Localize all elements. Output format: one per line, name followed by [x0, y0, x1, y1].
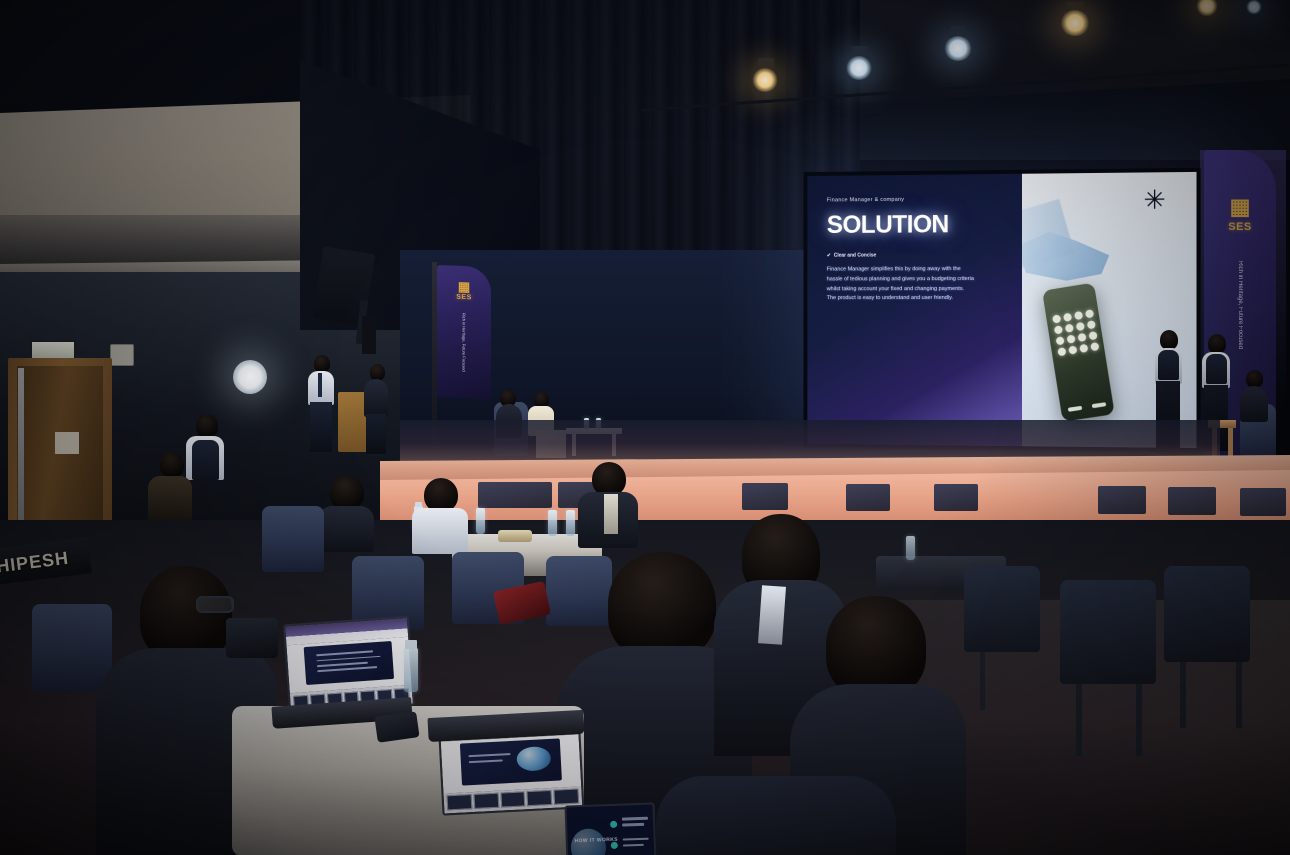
water-bottle	[548, 510, 557, 536]
projection-screen: Finance Manager & company SOLUTION ✔Clea…	[804, 168, 1201, 452]
audience-collar	[758, 585, 786, 645]
slide-canvas[interactable]	[441, 735, 582, 794]
wall-lamp-icon	[233, 360, 267, 394]
audience-chair	[1164, 566, 1250, 662]
keypad-key	[1078, 333, 1087, 342]
slide-subheading-text: Clear and Concise	[834, 253, 877, 259]
slide-thumbnail[interactable]	[527, 790, 553, 806]
chair-leg	[1136, 684, 1142, 756]
keypad-key	[1091, 342, 1100, 351]
stage-panel	[1240, 488, 1286, 516]
auditorium-photo: ▦ SES Rich in Heritage, Future Focused ▦…	[0, 0, 1290, 855]
stool-leg	[1228, 428, 1233, 458]
warm-spotlight-icon	[1060, 10, 1090, 36]
keypad-key	[1069, 345, 1078, 354]
stage-panel	[934, 484, 978, 511]
slide-subheading: ✔Clear and Concise	[827, 252, 1011, 259]
speaker-mount	[362, 316, 376, 354]
wall-plate	[110, 344, 134, 366]
audience-chair	[964, 566, 1040, 652]
slide-text-line	[469, 753, 511, 758]
audience-collar	[604, 494, 618, 534]
step-dot	[611, 842, 618, 849]
cool-spotlight-icon	[944, 36, 972, 61]
slide-thumbnail[interactable]	[473, 793, 499, 809]
editor-slide[interactable]	[304, 641, 394, 686]
keypad-key	[1065, 324, 1074, 333]
audience-chair	[1060, 580, 1156, 684]
stage-panel	[846, 484, 890, 511]
audience-head	[330, 476, 364, 510]
eyeglasses-icon	[196, 596, 234, 613]
chair-leg	[980, 652, 985, 710]
water-bottle	[906, 536, 915, 560]
bag	[226, 618, 278, 658]
check-icon: ✔	[827, 253, 831, 259]
slide-text-line	[317, 651, 373, 656]
student-vest	[1158, 350, 1179, 380]
presenter-legs	[310, 402, 332, 452]
chair-leg	[1236, 662, 1242, 728]
chair-leg	[1076, 684, 1082, 756]
slide-title: SOLUTION	[827, 212, 1011, 238]
slide-text-line	[622, 817, 648, 820]
editor-slide[interactable]	[460, 739, 561, 785]
stage-panel	[478, 482, 552, 508]
audience-body	[318, 506, 374, 552]
water-bottle	[566, 510, 575, 536]
keypad-key	[1056, 336, 1065, 345]
slide-text-line	[469, 759, 503, 763]
asterisk-icon: ✳	[1143, 186, 1165, 213]
ses-banner-right-logo: SES	[1204, 221, 1276, 233]
stage-panel	[1168, 487, 1216, 515]
slide-text-line	[317, 655, 380, 661]
audience-body	[148, 476, 192, 520]
cool-spotlight-icon	[846, 56, 872, 80]
student-head	[1208, 334, 1226, 354]
slide-thumbnail[interactable]	[500, 792, 526, 808]
stage-panel	[742, 483, 788, 510]
slide-thumbnail[interactable]	[554, 789, 580, 805]
slide-text-line	[622, 823, 644, 826]
water-bottle	[404, 648, 418, 692]
presenter-legs	[366, 414, 386, 454]
chair-leg	[1180, 662, 1186, 728]
keypad-key	[1067, 335, 1076, 344]
slide-text-line	[318, 666, 378, 672]
slide-text-panel: Finance Manager & company SOLUTION ✔Clea…	[807, 174, 1022, 446]
student-vest	[1206, 354, 1227, 384]
ses-banner-left-logo: SES	[437, 293, 491, 302]
audience-chair	[32, 604, 112, 692]
keypad-key	[1087, 320, 1096, 329]
phone-bar	[1068, 406, 1083, 412]
keypad-key	[1063, 313, 1072, 322]
audience-head	[160, 452, 184, 478]
student-body	[1240, 386, 1268, 422]
audience-body	[412, 508, 468, 554]
door-light-gap	[18, 368, 24, 534]
keypad-key	[1074, 311, 1083, 320]
slide-canvas[interactable]	[286, 637, 411, 694]
projected-slide: Finance Manager & company SOLUTION ✔Clea…	[807, 172, 1196, 448]
slide-text-line	[623, 844, 644, 847]
slide-eyebrow: Finance Manager & company	[827, 196, 1011, 204]
ses-banner-left: ▦ SES Rich in Heritage, Future Focused	[437, 265, 491, 399]
audience-head	[424, 478, 458, 512]
keypad-key	[1089, 331, 1098, 340]
ses-crest-icon: ▦	[1204, 196, 1276, 218]
keypad-key	[1076, 322, 1085, 331]
presenter-tie	[318, 373, 322, 397]
ses-banner-right-tagline: Rich in Heritage, Future Focused	[1237, 261, 1243, 371]
slide-body: Finance Manager simplifies this by doing…	[827, 265, 974, 304]
slide-thumbnail[interactable]	[447, 795, 473, 811]
snack-plate	[498, 530, 532, 542]
door-notice-paper	[55, 432, 79, 454]
step-dot	[610, 821, 617, 828]
presenter-body	[364, 379, 388, 417]
slide-phone	[1042, 283, 1115, 422]
phone-keypad	[1052, 309, 1098, 356]
audience-chair	[262, 506, 324, 572]
keypad-key	[1054, 325, 1063, 334]
bottle-cap	[415, 502, 422, 507]
bottle-cap	[405, 640, 417, 649]
audience-chair	[656, 776, 896, 855]
keypad-key	[1052, 314, 1061, 323]
water-bottle	[476, 508, 485, 534]
audience-head	[826, 596, 926, 698]
keypad-key	[1085, 309, 1094, 318]
student-head	[1160, 330, 1178, 350]
warm-spotlight-icon	[752, 68, 778, 92]
audience-chair	[546, 556, 612, 626]
globe-icon	[516, 746, 551, 772]
cool-spotlight-icon	[1246, 0, 1262, 14]
audience-vest	[192, 440, 219, 480]
phone-bar	[1092, 402, 1107, 408]
stage-panel	[1098, 486, 1146, 514]
ses-banner-left-tagline: Rich in Heritage, Future Focused	[462, 313, 467, 369]
laptop-right-screen[interactable]: HOW IT WORKS	[564, 802, 657, 855]
audience-head	[608, 552, 716, 660]
keypad-key	[1080, 344, 1089, 353]
audience-head	[196, 414, 218, 438]
ses-crest-icon: ▦	[437, 279, 491, 294]
keypad-key	[1058, 347, 1067, 356]
slide-text-line	[623, 837, 649, 840]
audience-head	[592, 462, 626, 496]
slide-text-line	[317, 662, 368, 667]
